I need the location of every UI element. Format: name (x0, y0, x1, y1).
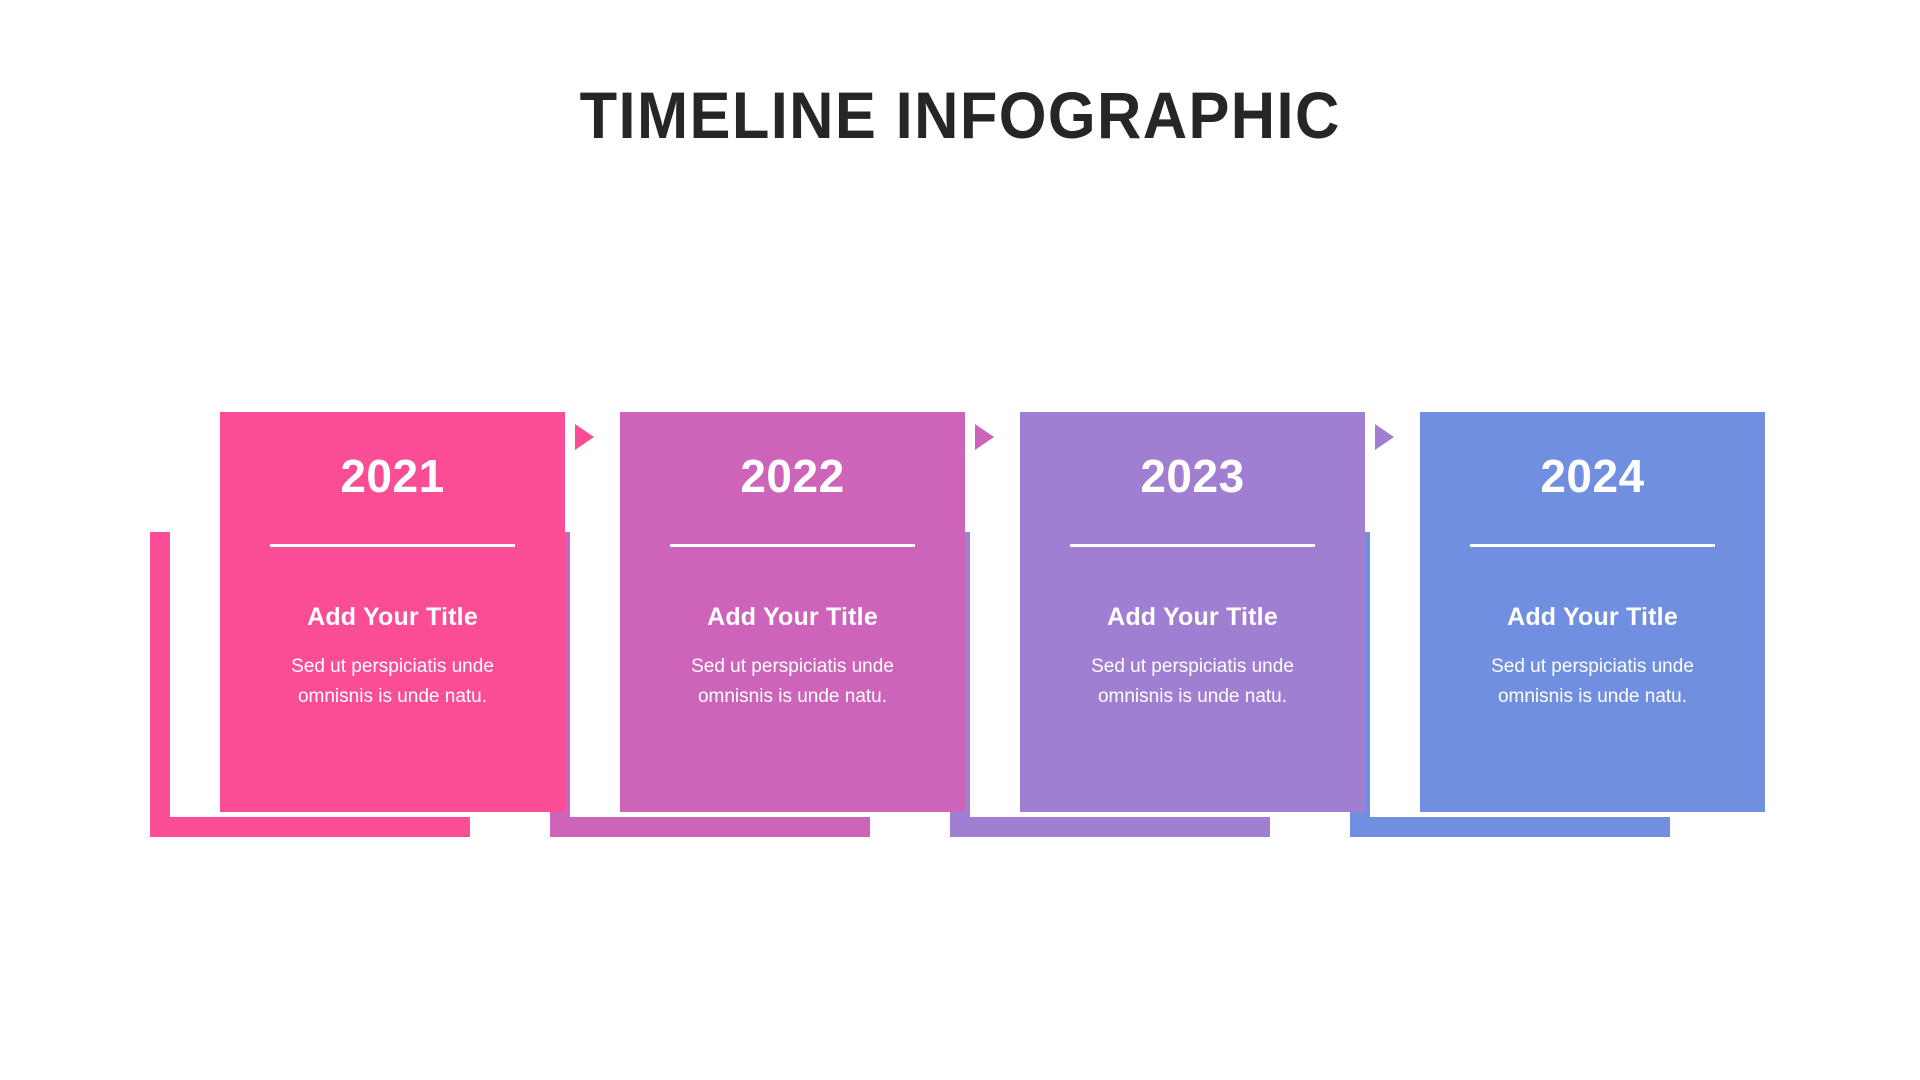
step-year: 2024 (1448, 452, 1737, 500)
step-heading: Add Your Title (648, 603, 937, 632)
page-title-container: TIMELINE INFOGRAPHIC (0, 82, 1920, 148)
page-title: TIMELINE INFOGRAPHIC (579, 82, 1340, 148)
step-card[interactable]: 2021 Add Your Title Sed ut perspiciatis … (220, 412, 565, 812)
step-divider (270, 544, 515, 547)
infographic-slide: TIMELINE INFOGRAPHIC 2021 Add Your Title… (0, 0, 1920, 1080)
step-heading: Add Your Title (248, 603, 537, 632)
timeline-step-2021[interactable]: 2021 Add Your Title Sed ut perspiciatis … (220, 412, 565, 812)
step-divider (1070, 544, 1315, 547)
bracket-bottom-bar (1350, 817, 1670, 837)
step-divider (1470, 544, 1715, 547)
step-year: 2021 (248, 452, 537, 500)
step-description: Sed ut perspiciatis unde omnisnis is und… (1048, 652, 1337, 711)
step-card[interactable]: 2022 Add Your Title Sed ut perspiciatis … (620, 412, 965, 812)
step-description: Sed ut perspiciatis unde omnisnis is und… (248, 652, 537, 711)
step-description: Sed ut perspiciatis unde omnisnis is und… (648, 652, 937, 711)
bracket-bottom-bar (550, 817, 870, 837)
bracket-left-bar (150, 532, 170, 837)
step-card[interactable]: 2023 Add Your Title Sed ut perspiciatis … (1020, 412, 1365, 812)
arrow-right-icon (575, 424, 594, 450)
step-heading: Add Your Title (1448, 603, 1737, 632)
bracket-bottom-bar (950, 817, 1270, 837)
bracket-bottom-bar (150, 817, 470, 837)
step-year: 2022 (648, 452, 937, 500)
arrow-right-icon (1375, 424, 1394, 450)
step-card[interactable]: 2024 Add Your Title Sed ut perspiciatis … (1420, 412, 1765, 812)
timeline-step-2023[interactable]: 2023 Add Your Title Sed ut perspiciatis … (1020, 412, 1365, 812)
timeline-step-2022[interactable]: 2022 Add Your Title Sed ut perspiciatis … (620, 412, 965, 812)
arrow-right-icon (975, 424, 994, 450)
step-year: 2023 (1048, 452, 1337, 500)
timeline-step-2024[interactable]: 2024 Add Your Title Sed ut perspiciatis … (1420, 412, 1765, 812)
step-heading: Add Your Title (1048, 603, 1337, 632)
step-divider (670, 544, 915, 547)
timeline-row: 2021 Add Your Title Sed ut perspiciatis … (190, 412, 1760, 842)
step-description: Sed ut perspiciatis unde omnisnis is und… (1448, 652, 1737, 711)
